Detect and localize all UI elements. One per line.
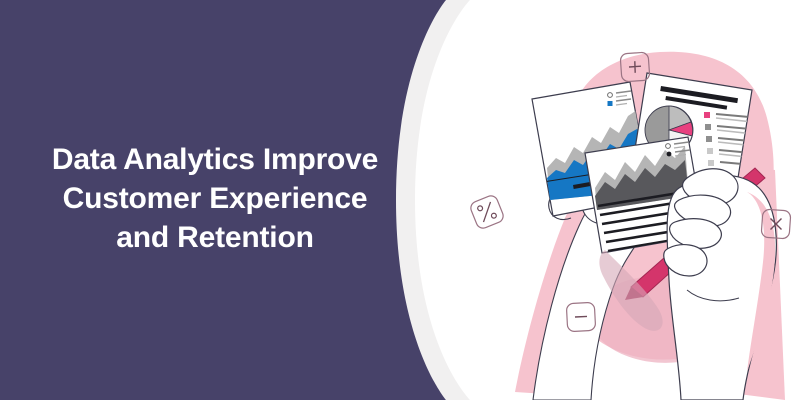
pie-legend-swatch-1: [704, 112, 710, 118]
chart-1-legend-marker-2: [608, 101, 613, 106]
pie-legend-swatch-4: [707, 148, 713, 154]
minus-icon: [575, 316, 587, 317]
title-line-1: Data Analytics Improve: [30, 140, 400, 179]
percent-icon: [477, 201, 497, 222]
pie-legend-swatch-5: [708, 160, 714, 166]
hero-banner: Data Analytics Improve Customer Experien…: [0, 0, 800, 400]
data-analysis-illustration: [455, 0, 800, 400]
percent-badge: [469, 194, 505, 230]
chart-3-legend-marker-2: [667, 152, 672, 157]
pie-legend-swatch-2: [705, 124, 711, 130]
pie-legend-swatch-3: [706, 136, 712, 142]
title-line-2: Customer Experience: [30, 179, 400, 218]
title-line-3: and Retention: [30, 218, 400, 257]
page-title: Data Analytics Improve Customer Experien…: [30, 140, 400, 257]
